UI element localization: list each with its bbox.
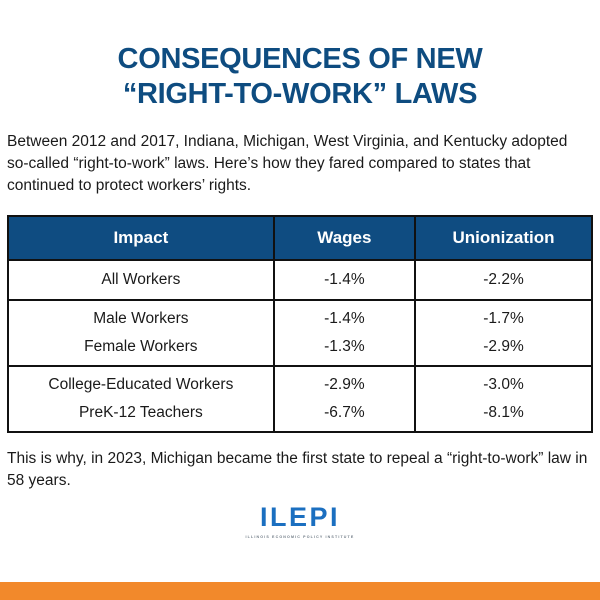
table-row: College-Educated Workers -2.9% -3.0% [8,366,592,399]
cell-impact: All Workers [8,260,274,300]
table-body: All Workers -1.4% -2.2% Male Workers -1.… [8,260,592,432]
table-header: Impact Wages Unionization [8,216,592,260]
cell-impact: Female Workers [8,333,274,366]
table-row: All Workers -1.4% -2.2% [8,260,592,300]
column-header-unionization: Unionization [415,216,592,260]
cell-unionization: -3.0% [415,366,592,399]
cell-wages: -1.4% [274,260,415,300]
table-header-row: Impact Wages Unionization [8,216,592,260]
footnote-text: This is why, in 2023, Michigan became th… [7,448,590,492]
logo-subtitle: ILLINOIS ECONOMIC POLICY INSTITUTE [246,535,355,539]
cell-wages: -1.3% [274,333,415,366]
cell-unionization: -8.1% [415,399,592,432]
bottom-accent-bar [0,582,600,600]
cell-wages: -6.7% [274,399,415,432]
intro-text: Between 2012 and 2017, Indiana, Michigan… [7,131,590,197]
title-line-1: CONSEQUENCES OF NEW [40,42,560,77]
cell-unionization: -2.9% [415,333,592,366]
cell-impact: Male Workers [8,300,274,333]
cell-unionization: -2.2% [415,260,592,300]
impact-data-table: Impact Wages Unionization All Workers -1… [7,215,593,433]
column-header-wages: Wages [274,216,415,260]
logo-wordmark: ILEPI [260,504,340,531]
column-header-impact: Impact [8,216,274,260]
cell-impact: College-Educated Workers [8,366,274,399]
intro-paragraph: Between 2012 and 2017, Indiana, Michigan… [0,113,600,197]
table-row: Female Workers -1.3% -2.9% [8,333,592,366]
cell-wages: -2.9% [274,366,415,399]
cell-wages: -1.4% [274,300,415,333]
footnote-paragraph: This is why, in 2023, Michigan became th… [0,433,600,492]
cell-unionization: -1.7% [415,300,592,333]
table-row: Male Workers -1.4% -1.7% [8,300,592,333]
cell-impact: PreK-12 Teachers [8,399,274,432]
page-title: CONSEQUENCES OF NEW “RIGHT-TO-WORK” LAWS [0,0,600,113]
table-container: Impact Wages Unionization All Workers -1… [0,197,600,433]
infographic-card: CONSEQUENCES OF NEW “RIGHT-TO-WORK” LAWS… [0,0,600,600]
title-line-2: “RIGHT-TO-WORK” LAWS [40,77,560,112]
table-row: PreK-12 Teachers -6.7% -8.1% [8,399,592,432]
